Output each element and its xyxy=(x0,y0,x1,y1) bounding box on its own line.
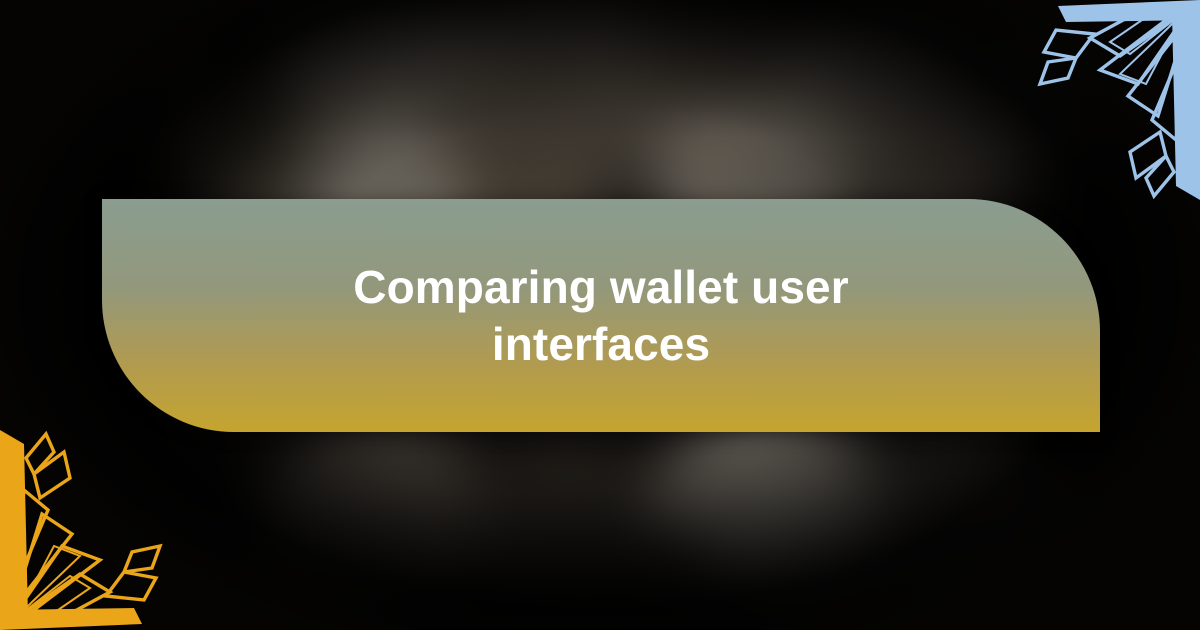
page-title: Comparing wallet user interfaces xyxy=(257,259,945,371)
social-card: Comparing wallet user interfaces xyxy=(0,0,1200,630)
title-banner: Comparing wallet user interfaces xyxy=(102,199,1100,432)
